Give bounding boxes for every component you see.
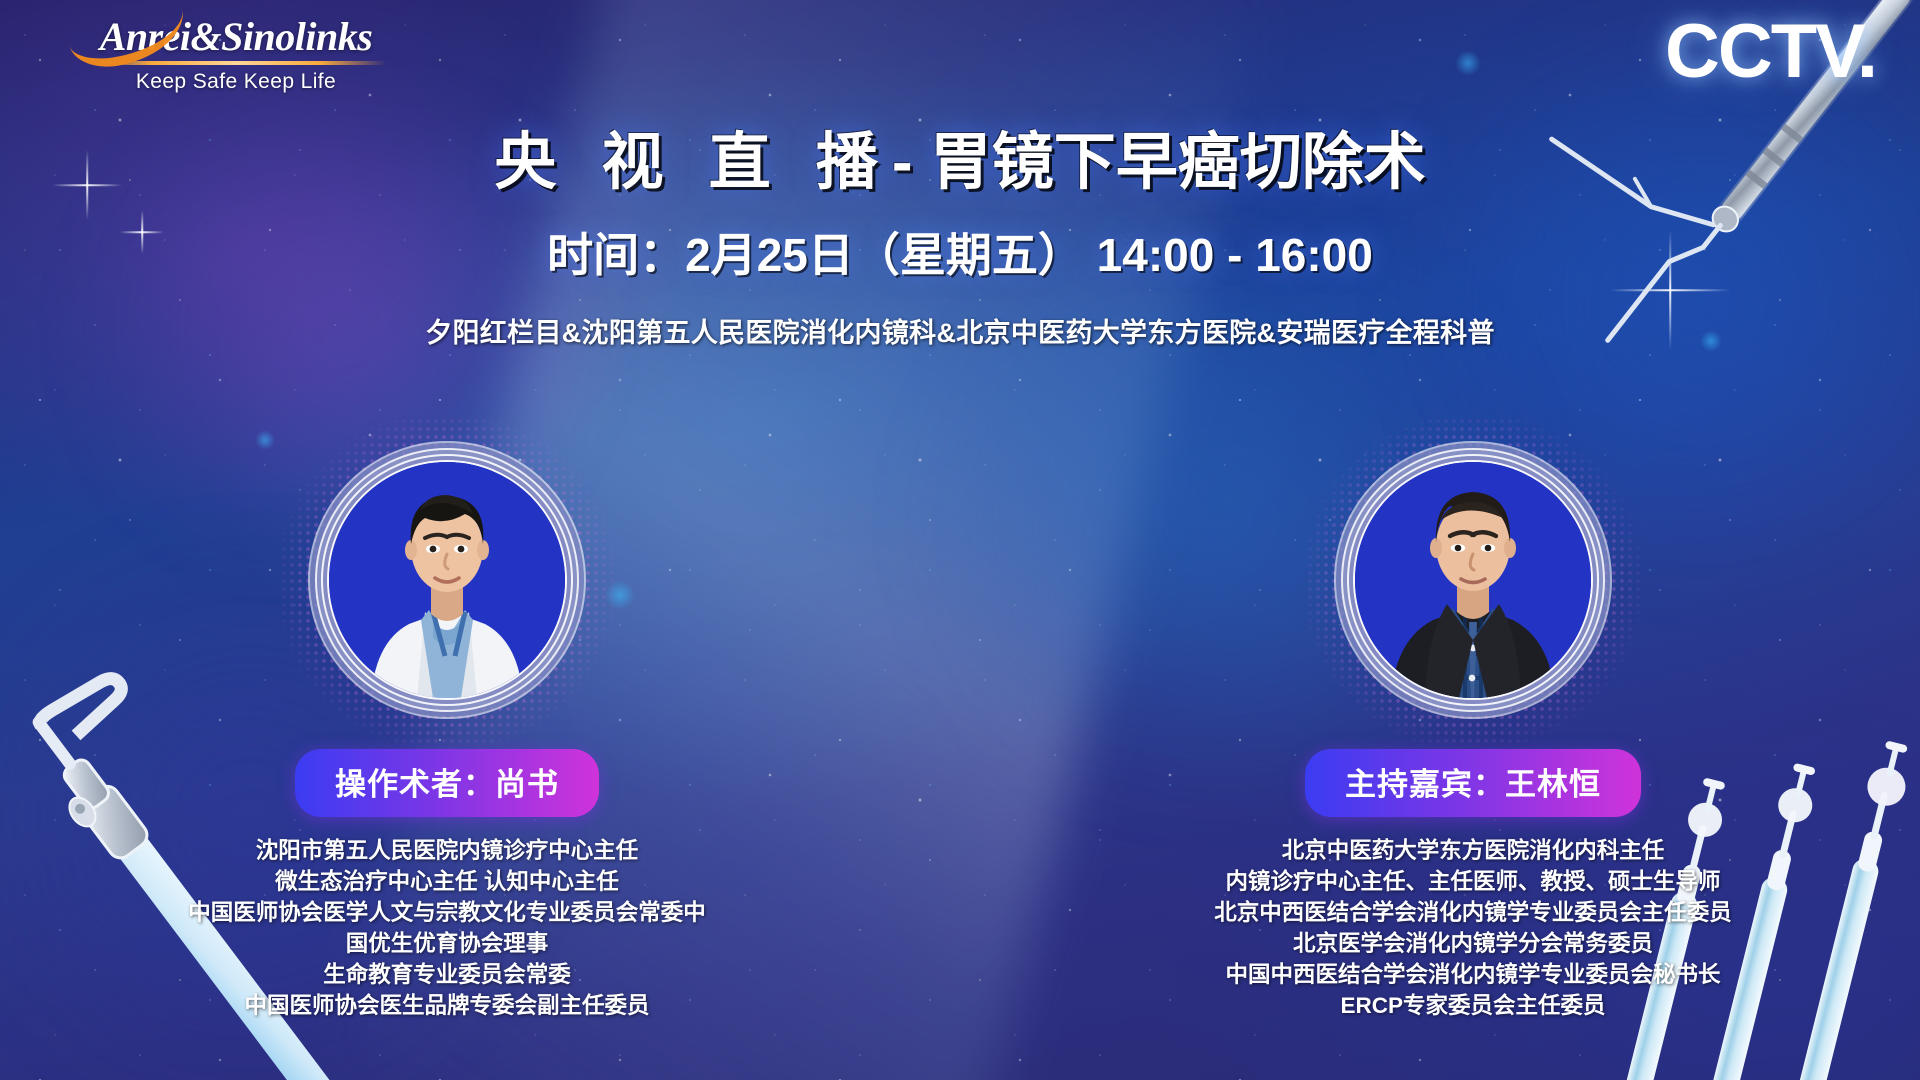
brand-name: Anrei&Sinolinks (76, 16, 396, 58)
star-glow-icon (1455, 50, 1481, 76)
avatar (329, 462, 565, 698)
page-title-lead: 央 视 直 播 (494, 128, 892, 197)
halftone-backdrop (1348, 455, 1598, 705)
bio-line: 中国医师协会医学人文与宗教文化专业委员会常委中 (188, 897, 706, 928)
speaker-badge: 操作术者：尚书 (295, 749, 599, 817)
brand-tagline: Keep Safe Keep Life (76, 70, 396, 94)
avatar (1355, 462, 1591, 698)
speaker-card-host: 主持嘉宾：王林恒 北京中医药大学东方医院消化内科主任 内镜诊疗中心主任、主任医师… (1153, 455, 1793, 1021)
cctv-logo: CCTV. (1665, 14, 1876, 90)
headline-block: 央 视 直 播- 胃镜下早癌切除术 时间：2月25日（星期五） 14:00 - … (0, 128, 1920, 350)
broadcast-time: 时间：2月25日（星期五） 14:00 - 16:00 (0, 219, 1920, 285)
speaker-bio: 沈阳市第五人民医院内镜诊疗中心主任 微生态治疗中心主任 认知中心主任 中国医师协… (188, 835, 706, 1021)
bio-line: 中国医师协会医生品牌专委会副主任委员 (188, 990, 706, 1021)
bio-line: 中国中西医结合学会消化内镜学专业委员会秘书长 (1214, 959, 1732, 990)
bio-line: 北京医学会消化内镜学分会常务委员 (1214, 928, 1732, 959)
bio-line: 微生态治疗中心主任 认知中心主任 (188, 866, 706, 897)
speakers-row: 操作术者：尚书 沈阳市第五人民医院内镜诊疗中心主任 微生态治疗中心主任 认知中心… (0, 455, 1920, 1021)
partners-line: 夕阳红栏目&沈阳第五人民医院消化内镜科&北京中医药大学东方医院&安瑞医疗全程科普 (0, 311, 1920, 350)
live-broadcast-poster: Anrei&Sinolinks Keep Safe Keep Life CCTV… (0, 0, 1920, 1080)
host-portrait-icon (1355, 462, 1591, 698)
page-title-rest: - 胃镜下早癌切除术 (892, 128, 1426, 197)
bio-line: 北京中西医结合学会消化内镜学专业委员会主任委员 (1214, 897, 1732, 928)
bio-line: ERCP专家委员会主任委员 (1214, 990, 1732, 1021)
speaker-card-operator: 操作术者：尚书 沈阳市第五人民医院内镜诊疗中心主任 微生态治疗中心主任 认知中心… (127, 455, 767, 1021)
bio-line: 内镜诊疗中心主任、主任医师、教授、硕士生导师 (1214, 866, 1732, 897)
bio-line: 国优生优育协会理事 (188, 928, 706, 959)
avatar-ring (1355, 462, 1591, 698)
bio-line: 沈阳市第五人民医院内镜诊疗中心主任 (188, 835, 706, 866)
speaker-bio: 北京中医药大学东方医院消化内科主任 内镜诊疗中心主任、主任医师、教授、硕士生导师… (1214, 835, 1732, 1021)
page-title: 央 视 直 播- 胃镜下早癌切除术 (0, 128, 1920, 197)
halftone-backdrop (322, 455, 572, 705)
speaker-badge: 主持嘉宾：王林恒 (1305, 749, 1641, 817)
star-glow-icon (255, 430, 275, 450)
avatar-ring (329, 462, 565, 698)
bio-line: 北京中医药大学东方医院消化内科主任 (1214, 835, 1732, 866)
brand-logo: Anrei&Sinolinks Keep Safe Keep Life (76, 16, 396, 94)
operator-portrait-icon (329, 462, 565, 698)
bio-line: 生命教育专业委员会常委 (188, 959, 706, 990)
